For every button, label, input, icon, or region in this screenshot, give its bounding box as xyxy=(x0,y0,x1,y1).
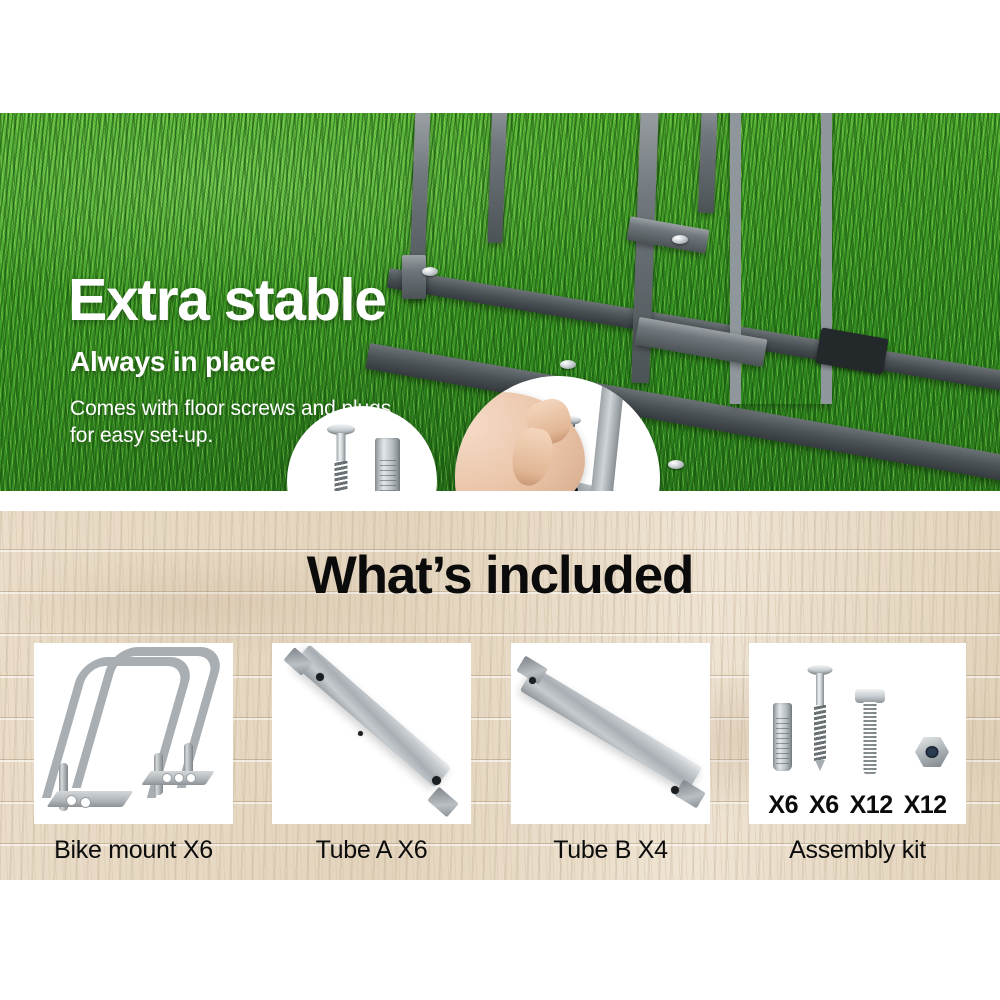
rack-screw-2 xyxy=(560,360,576,369)
caption-tube-a: Tube A X6 xyxy=(262,836,481,865)
included-title: What’s included xyxy=(0,549,1000,602)
rack-screw-4 xyxy=(422,267,438,276)
product-card-assembly-kit: X6 X6 X12 X12 xyxy=(749,643,966,824)
product-card-bike-mount xyxy=(34,643,233,824)
hero-subheadline: Always in place xyxy=(70,346,276,378)
rack-bracket-1 xyxy=(402,255,426,299)
qty-hex-bolt: X12 xyxy=(850,791,893,820)
assembly-kit-quantities: X6 X6 X12 X12 xyxy=(749,791,966,820)
rack-upright-4 xyxy=(698,113,718,213)
caption-tube-b: Tube B X4 xyxy=(501,836,720,865)
caption-bike-mount: Bike mount X6 xyxy=(24,836,243,865)
hex-bolt-icon xyxy=(853,689,887,775)
floor-screw-icon xyxy=(327,424,355,491)
rack-upright-closeup xyxy=(586,376,626,491)
rack-upright-2 xyxy=(487,113,507,243)
qty-wall-plug: X6 xyxy=(768,791,798,820)
rack-screw-1 xyxy=(672,235,688,244)
tube-a-icon xyxy=(272,643,471,824)
hero-headline: Extra stable xyxy=(68,271,386,330)
caption-assembly-kit: Assembly kit xyxy=(749,836,966,865)
product-card-tube-b xyxy=(511,643,710,824)
bike-mount-icon xyxy=(34,643,233,824)
rack-screw-3 xyxy=(668,460,684,469)
tube-b-icon xyxy=(511,643,710,824)
lock-nut-icon xyxy=(915,737,949,767)
hero-panel: Extra stable Always in place Comes with … xyxy=(0,113,1000,491)
wall-plug-icon xyxy=(375,438,400,491)
wall-plug-icon xyxy=(773,703,792,771)
wood-screw-icon xyxy=(807,665,833,775)
qty-lock-nut: X12 xyxy=(904,791,947,820)
product-card-tube-a xyxy=(272,643,471,824)
qty-wood-screw: X6 xyxy=(809,791,839,820)
product-marketing-image: Extra stable Always in place Comes with … xyxy=(0,0,1000,1000)
